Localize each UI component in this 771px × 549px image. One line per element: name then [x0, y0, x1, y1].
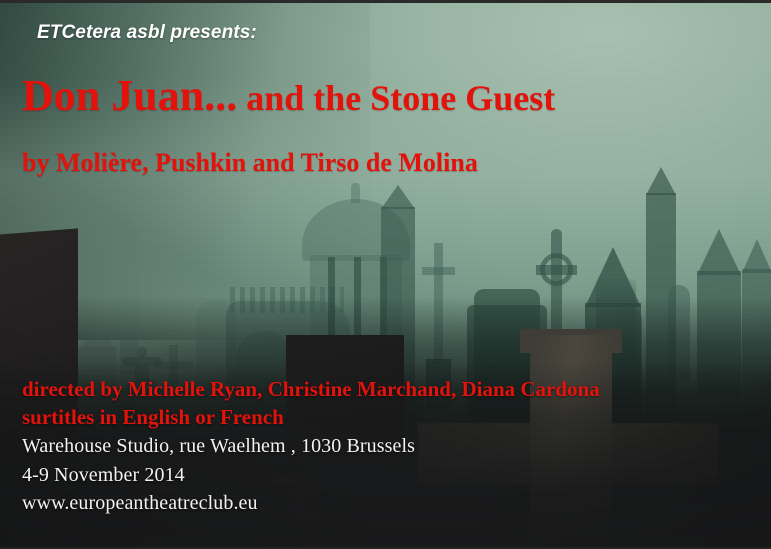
authors-line: by Molière, Pushkin and Tirso de Molina — [22, 148, 478, 178]
poster-title: Don Juan... and the Stone Guest — [22, 70, 555, 121]
surtitles-line: surtitles in English or French — [22, 404, 600, 432]
theatre-poster: ETCetera asbl presents: Don Juan... and … — [0, 0, 771, 549]
presenter-line: ETCetera asbl presents: — [37, 22, 257, 44]
directors-line: directed by Michelle Ryan, Christine Mar… — [22, 376, 600, 404]
credits-block: directed by Michelle Ryan, Christine Mar… — [22, 376, 600, 518]
dates-line: 4-9 November 2014 — [22, 461, 600, 490]
title-rest: and the Stone Guest — [237, 78, 555, 118]
venue-line: Warehouse Studio, rue Waelhem , 1030 Bru… — [22, 432, 600, 461]
title-main: Don Juan... — [22, 71, 237, 120]
website-line[interactable]: www.europeantheatreclub.eu — [22, 489, 600, 518]
top-edge-line — [0, 0, 771, 3]
